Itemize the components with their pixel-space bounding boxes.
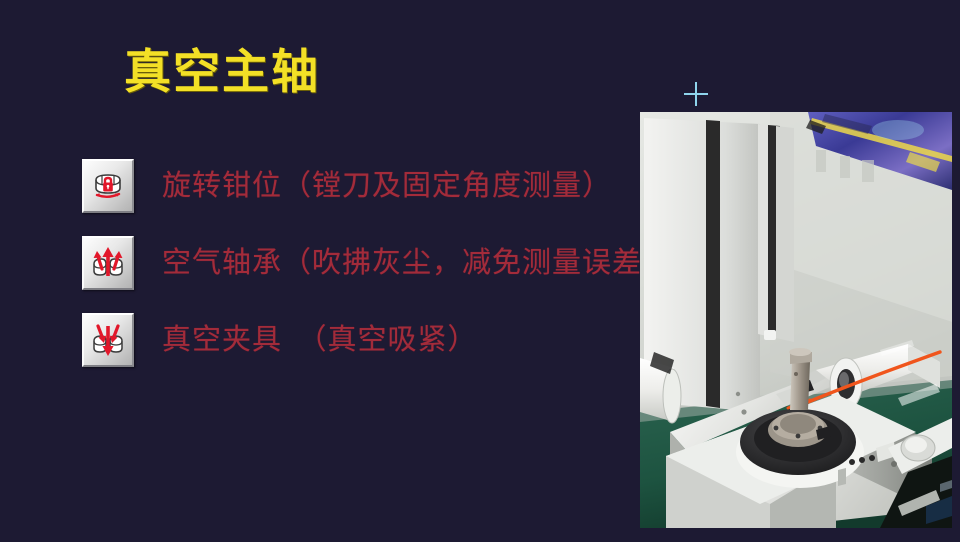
vacuum-chuck-down-arrows-icon[interactable]	[82, 313, 134, 367]
list-item-label: 真空夹具 （真空吸紧）	[162, 323, 478, 357]
crosshair-cursor	[684, 82, 708, 106]
list-item[interactable]: 真空夹具 （真空吸紧）	[82, 312, 642, 368]
list-item-label: 空气轴承（吹拂灰尘，减免测量误差）	[162, 246, 672, 280]
vacuum-spindle-machine-photo	[640, 112, 952, 528]
slide-root: 真空主轴	[0, 0, 960, 542]
bullet-list: 旋转钳位（镗刀及固定角度测量）	[82, 158, 642, 389]
list-item[interactable]: 旋转钳位（镗刀及固定角度测量）	[82, 158, 642, 214]
air-bearing-up-arrows-icon[interactable]	[82, 236, 134, 290]
photo-content	[640, 112, 952, 528]
list-item[interactable]: 空气轴承（吹拂灰尘，减免测量误差）	[82, 235, 642, 291]
page-title: 真空主轴	[124, 44, 320, 102]
rotary-clamp-lock-icon[interactable]	[82, 159, 134, 213]
list-item-label: 旋转钳位（镗刀及固定角度测量）	[162, 169, 612, 203]
